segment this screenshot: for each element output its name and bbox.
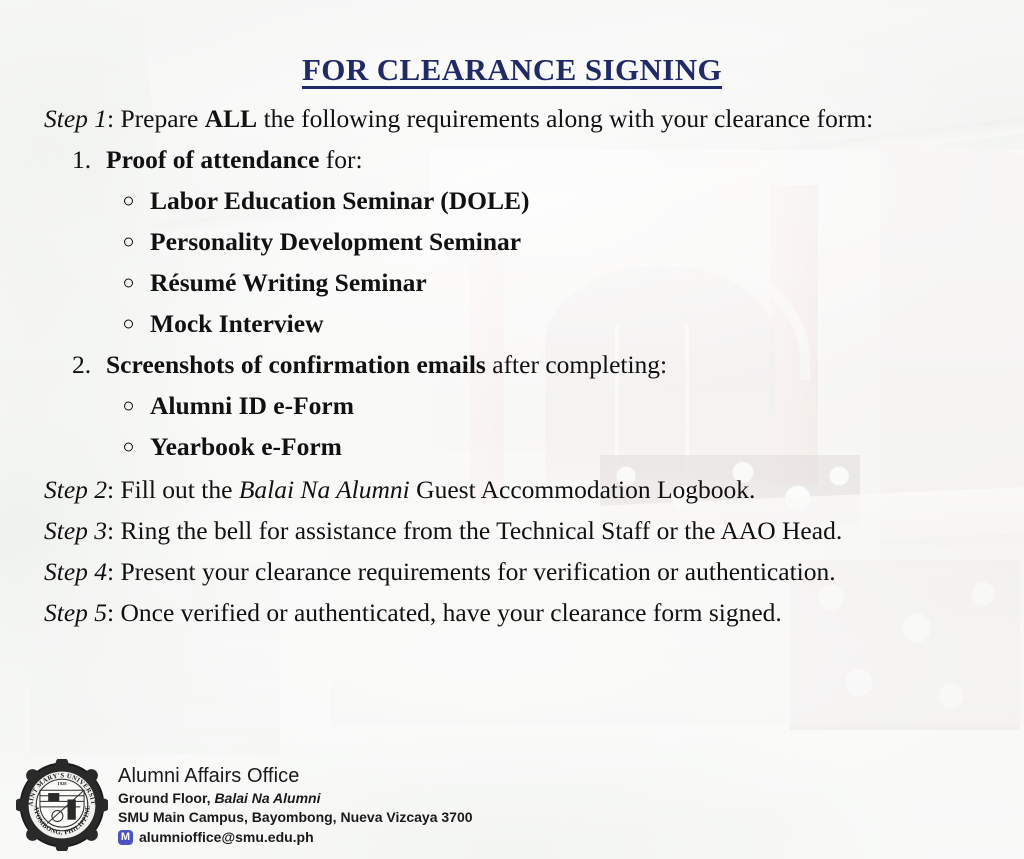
step-5-text: Once verified or authenticated, have you… [121, 598, 782, 627]
requirement-1-sublist: Labor Education Seminar (DOLE) Personali… [106, 180, 984, 344]
step-1-text-before: Prepare [121, 104, 205, 133]
step-2-text-after: Guest Accommodation Logbook. [410, 475, 756, 504]
bullet-circle-icon [124, 196, 133, 205]
email-row[interactable]: M alumnioffice@smu.edu.ph [118, 828, 473, 847]
mail-icon: M [118, 830, 133, 845]
remaining-steps: Step 2: Fill out the Balai Na Alumni Gue… [44, 469, 984, 633]
poster-content: FOR CLEARANCE SIGNING Step 1: Prepare AL… [0, 0, 1024, 859]
poster-canvas: FOR CLEARANCE SIGNING Step 1: Prepare AL… [0, 0, 1024, 859]
instructions-body: Step 1: Prepare ALL the following requir… [44, 98, 984, 633]
requirement-2-sublist: Alumni ID e-Form Yearbook e-Form [106, 385, 984, 467]
sub-item-label: Yearbook e-Form [150, 432, 342, 461]
step-1-label: Step 1 [44, 104, 107, 133]
email-address[interactable]: alumnioffice@smu.edu.ph [139, 828, 314, 847]
page-title: FOR CLEARANCE SIGNING [0, 52, 1024, 88]
step-1-colon: : [107, 104, 120, 133]
office-name: Alumni Affairs Office [118, 764, 473, 789]
sub-item-label: Résumé Writing Seminar [150, 268, 427, 297]
step-5-label: Step 5 [44, 598, 107, 627]
requirement-number-1: 1. [72, 139, 91, 180]
requirement-lead-2: Screenshots of confirmation emails [106, 350, 486, 379]
step-5-paragraph: Step 5: Once verified or authenticated, … [44, 592, 984, 633]
sub-item: Mock Interview [106, 303, 984, 344]
footer-text-block: Alumni Affairs Office Ground Floor, Bala… [118, 759, 473, 847]
requirement-item-1: 1. Proof of attendance for: Labor Educat… [44, 139, 984, 344]
step-1-emphasis: ALL [205, 104, 257, 133]
step-4-label: Step 4 [44, 557, 107, 586]
step-3-text: Ring the bell for assistance from the Te… [121, 516, 843, 545]
requirement-trailing-2: after completing: [486, 350, 667, 379]
sub-item-label: Labor Education Seminar (DOLE) [150, 186, 530, 215]
step-4-paragraph: Step 4: Present your clearance requireme… [44, 551, 984, 592]
footer: SAINT MARY'S UNIVERSITY BAYOMBONG, PHILI… [16, 759, 473, 851]
svg-text:1928: 1928 [57, 781, 67, 786]
step-2-label: Step 2 [44, 475, 107, 504]
university-seal-icon: SAINT MARY'S UNIVERSITY BAYOMBONG, PHILI… [16, 759, 108, 851]
step-3-label: Step 3 [44, 516, 107, 545]
step-4-colon: : [107, 557, 120, 586]
step-4-text: Present your clearance requirements for … [121, 557, 836, 586]
step-2-colon: : [107, 475, 120, 504]
sub-item: Personality Development Seminar [106, 221, 984, 262]
sub-item-label: Alumni ID e-Form [150, 391, 354, 420]
requirement-lead-1: Proof of attendance [106, 145, 319, 174]
requirement-trailing-1: for: [319, 145, 362, 174]
step-2-paragraph: Step 2: Fill out the Balai Na Alumni Gue… [44, 469, 984, 510]
bullet-circle-icon [124, 278, 133, 287]
sub-item: Labor Education Seminar (DOLE) [106, 180, 984, 221]
sub-item: Résumé Writing Seminar [106, 262, 984, 303]
sub-item-label: Mock Interview [150, 309, 324, 338]
bullet-circle-icon [124, 442, 133, 451]
address-line-2: SMU Main Campus, Bayombong, Nueva Vizcay… [118, 808, 473, 827]
bullet-circle-icon [124, 319, 133, 328]
requirement-number-2: 2. [72, 344, 91, 385]
bullet-circle-icon [124, 401, 133, 410]
bullet-circle-icon [124, 237, 133, 246]
requirements-list: 1. Proof of attendance for: Labor Educat… [44, 139, 984, 467]
step-2-text-before: Fill out the [121, 475, 239, 504]
sub-item-label: Personality Development Seminar [150, 227, 521, 256]
address-line-1-prefix: Ground Floor, [118, 790, 214, 806]
address-line-1-italic: Balai Na Alumni [214, 790, 320, 806]
step-5-colon: : [107, 598, 120, 627]
address-line-1: Ground Floor, Balai Na Alumni [118, 789, 473, 808]
step-3-colon: : [107, 516, 120, 545]
sub-item: Yearbook e-Form [106, 426, 984, 467]
requirement-item-2: 2. Screenshots of confirmation emails af… [44, 344, 984, 467]
step-2-emphasis: Balai Na Alumni [239, 475, 410, 504]
step-3-paragraph: Step 3: Ring the bell for assistance fro… [44, 510, 984, 551]
step-1-text-after: the following requirements along with yo… [257, 104, 873, 133]
sub-item: Alumni ID e-Form [106, 385, 984, 426]
step-1-paragraph: Step 1: Prepare ALL the following requir… [44, 98, 984, 139]
